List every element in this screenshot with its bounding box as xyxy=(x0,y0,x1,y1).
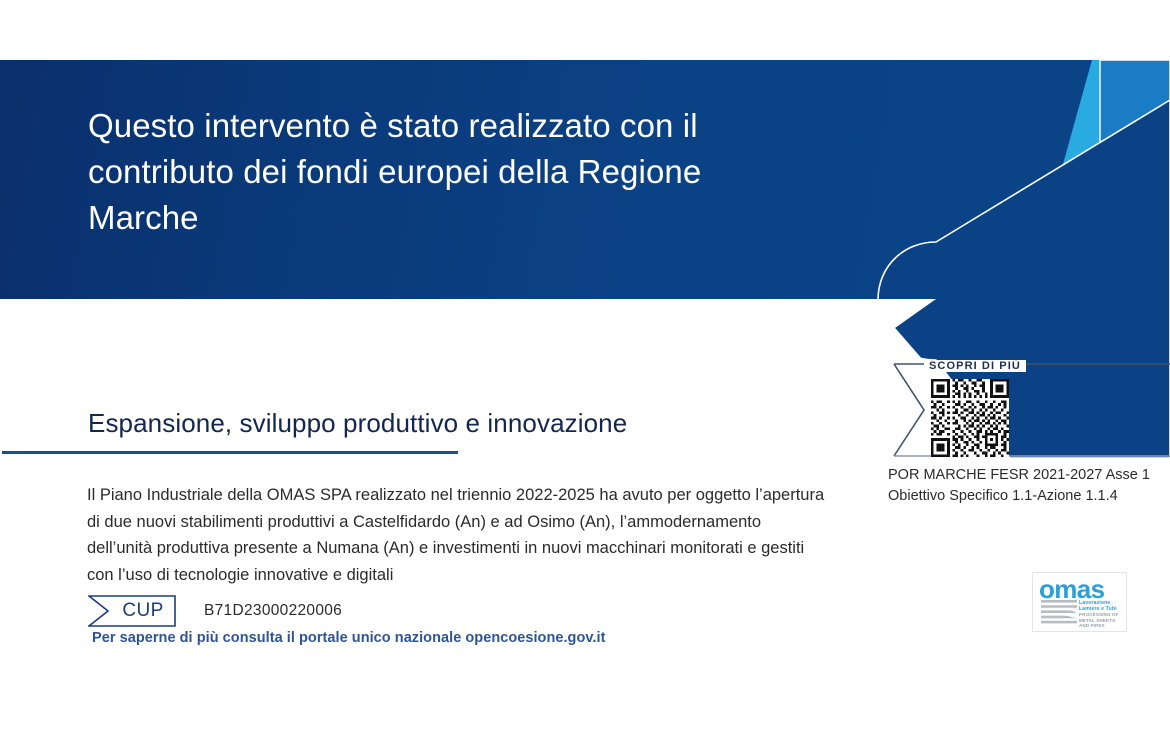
body-paragraph: Il Piano Industriale della OMAS SPA real… xyxy=(87,482,827,588)
cup-label: CUP xyxy=(88,595,176,627)
program-line-2: Obiettivo Specifico 1.1-Azione 1.1.4 xyxy=(888,486,1168,507)
scopri-di-piu-section: SCOPRI DI PIÙ xyxy=(884,362,1170,460)
page-title: Questo intervento è stato realizzato con… xyxy=(88,103,828,241)
portal-link-text[interactable]: Per saperne di più consulta il portale u… xyxy=(92,630,605,646)
poster-canvas: Questo intervento è stato realizzato con… xyxy=(0,0,1170,740)
qr-code[interactable] xyxy=(931,379,1009,457)
header-band: Questo intervento è stato realizzato con… xyxy=(0,60,1170,299)
scopri-di-piu-label: SCOPRI DI PIÙ xyxy=(924,360,1026,372)
omas-logo: omas Lavorazione Lamiere e Tubi PROCESSI… xyxy=(1032,572,1127,632)
ribbon-bracket xyxy=(884,362,1170,460)
cup-section: CUP B71D23000220006 xyxy=(88,595,342,627)
omas-tagline-blue: Lavorazione Lamiere e Tubi xyxy=(1079,600,1117,612)
cup-badge: CUP xyxy=(88,595,176,627)
cup-code: B71D23000220006 xyxy=(204,602,342,620)
program-line-1: POR MARCHE FESR 2021-2027 Asse 1 xyxy=(888,465,1168,486)
omas-wordmark: omas xyxy=(1039,576,1105,602)
omas-bars-icon xyxy=(1041,600,1077,631)
omas-tagline-gray: PROCESSING OF METAL SHEETS AND PIPES xyxy=(1079,612,1119,629)
program-reference: POR MARCHE FESR 2021-2027 Asse 1 Obietti… xyxy=(888,465,1168,507)
title-divider xyxy=(2,451,458,454)
section-subtitle: Espansione, sviluppo produttivo e innova… xyxy=(88,408,627,439)
